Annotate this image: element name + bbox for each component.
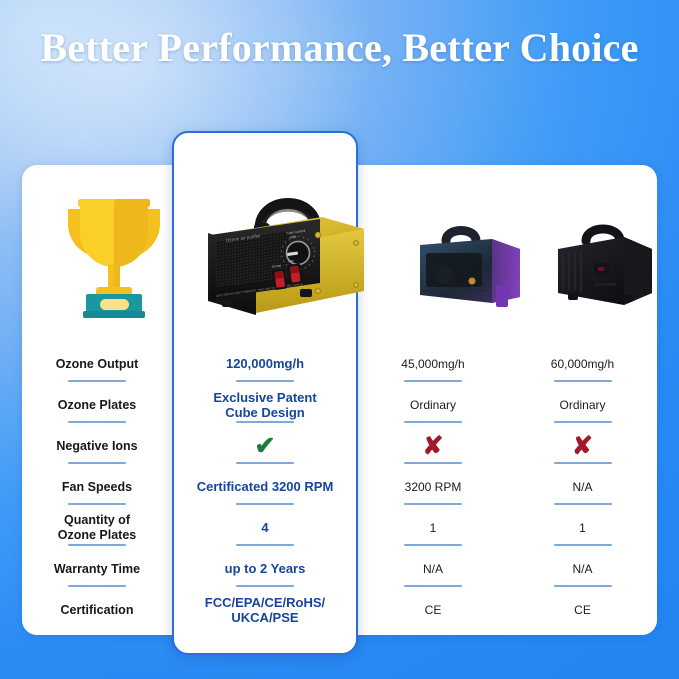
competitor-a-image (414, 223, 530, 315)
competitor-b-value-text: CE (574, 603, 591, 617)
cross-icon: ✘ (423, 434, 444, 459)
feature-label-text: Fan Speeds (62, 480, 132, 495)
comparison-table: Ozone Output120,000mg/h45,000mg/h60,000m… (22, 340, 657, 640)
featured-value-text: Exclusive PatentCube Design (213, 390, 316, 421)
featured-value-text: 120,000mg/h (226, 356, 304, 371)
competitor-b-value-text: 1 (579, 521, 586, 535)
competitor-b-value: Ordinary (508, 381, 657, 422)
competitor-b-value: 1 (508, 504, 657, 545)
competitor-a-value-text: N/A (423, 562, 443, 576)
competitor-a-value-text: 45,000mg/h (401, 357, 464, 371)
trophy-icon (58, 187, 170, 319)
competitor-b-value: N/A (508, 463, 657, 504)
competitor-b-value: CE (508, 586, 657, 627)
product-image-band: Ozone air purifier CAUTION:DO NOT OPERAT… (22, 165, 657, 340)
feature-label-text: Ozone Output (56, 357, 139, 372)
featured-value: FCC/EPA/CE/RoHS/UKCA/PSE (172, 586, 358, 627)
competitor-a-value: ✘ (358, 422, 508, 463)
competitor-b-value-text: N/A (572, 562, 592, 576)
featured-value: up to 2 Years (172, 545, 358, 586)
check-icon: ✔ (255, 434, 276, 459)
competitor-b-image (550, 223, 662, 315)
featured-value: Certificated 3200 RPM (172, 463, 358, 504)
competitor-b-value: ✘ (508, 422, 657, 463)
feature-label: Quantity ofOzone Plates (22, 504, 172, 545)
cross-icon: ✘ (572, 434, 593, 459)
competitor-b-value-text: Ordinary (559, 398, 605, 412)
feature-label-text: Certification (61, 603, 134, 618)
feature-label: Warranty Time (22, 545, 172, 586)
svg-text:Fan: Fan (288, 259, 294, 264)
feature-label: Ozone Plates (22, 381, 172, 422)
feature-label: Certification (22, 586, 172, 627)
featured-value-text: up to 2 Years (225, 561, 306, 576)
competitor-a-value-text: Ordinary (410, 398, 456, 412)
featured-value-text: Certificated 3200 RPM (197, 479, 334, 494)
featured-value: 4 (172, 504, 358, 545)
feature-label: Fan Speeds (22, 463, 172, 504)
competitor-a-value: N/A (358, 545, 508, 586)
competitor-a-value-text: 3200 RPM (405, 480, 462, 494)
page-title: Better Performance, Better Choice (0, 24, 679, 71)
competitor-b-value: N/A (508, 545, 657, 586)
gold-ozone-generator-image: Ozone air purifier CAUTION:DO NOT OPERAT… (204, 173, 370, 335)
competitor-a-value: 3200 RPM (358, 463, 508, 504)
competitor-a-value: Ordinary (358, 381, 508, 422)
featured-value: ✔ (172, 422, 358, 463)
feature-label: Ozone Output (22, 340, 172, 381)
competitor-a-value-text: 1 (430, 521, 437, 535)
feature-label-text: Negative Ions (56, 439, 137, 454)
competitor-b-value: 60,000mg/h (508, 340, 657, 381)
competitor-a-value: CE (358, 586, 508, 627)
competitor-a-value: 1 (358, 504, 508, 545)
feature-label-text: Quantity ofOzone Plates (58, 513, 137, 543)
competitor-a-value-text: CE (425, 603, 442, 617)
feature-label-text: Warranty Time (54, 562, 140, 577)
competitor-b-value-text: N/A (572, 480, 592, 494)
featured-value-text: 4 (261, 520, 268, 535)
competitor-a-value: 45,000mg/h (358, 340, 508, 381)
featured-value: 120,000mg/h (172, 340, 358, 381)
feature-label: Negative Ions (22, 422, 172, 463)
feature-label-text: Ozone Plates (58, 398, 137, 413)
featured-value: Exclusive PatentCube Design (172, 381, 358, 422)
featured-value-text: FCC/EPA/CE/RoHS/UKCA/PSE (205, 595, 325, 626)
competitor-b-value-text: 60,000mg/h (551, 357, 614, 371)
